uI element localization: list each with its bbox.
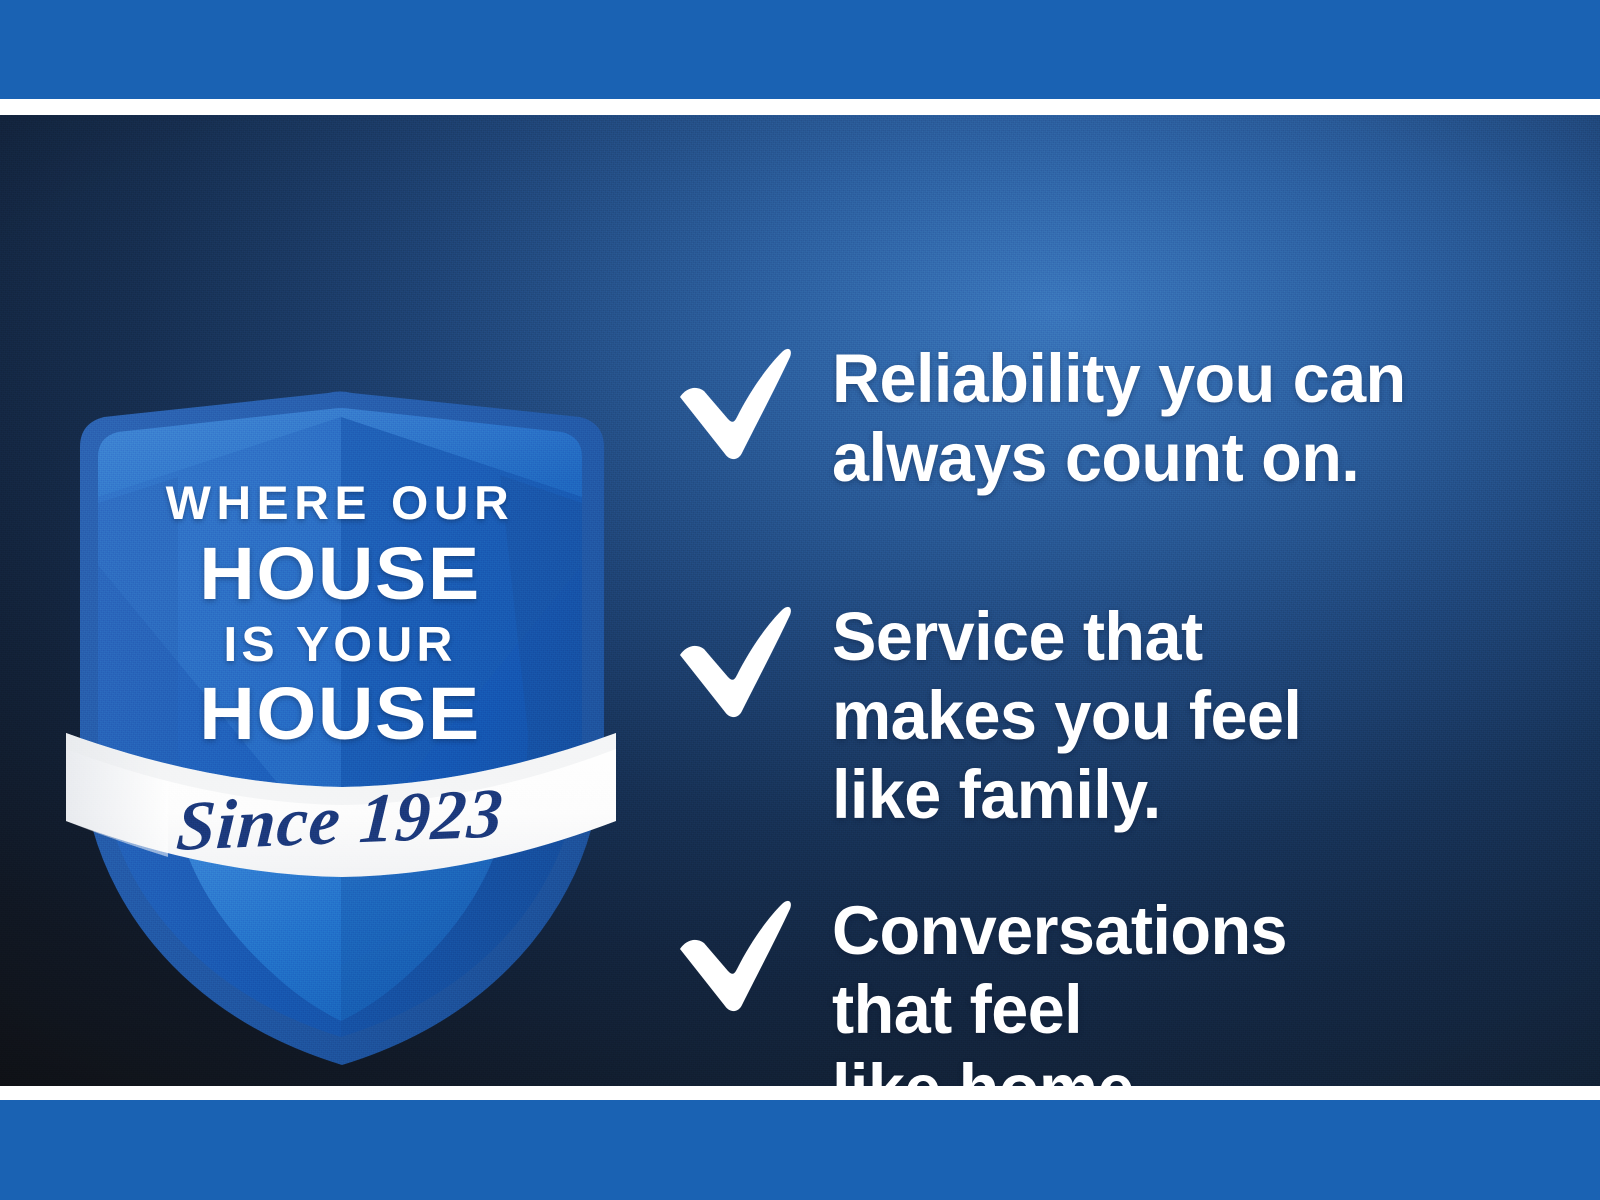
list-item-text: Reliability you can always count on. <box>832 339 1508 497</box>
list-item-line: Reliability you can <box>832 339 1508 418</box>
list-item-text: Conversations that feel like home. <box>832 891 1508 1086</box>
badge-line-1: WHERE OUR <box>54 479 625 526</box>
promo-graphic: WHERE OUR HOUSE IS YOUR HOUSE Since 1923… <box>0 0 1600 1200</box>
list-item-line: Service that <box>832 597 1508 676</box>
list-item-text: Service that makes you feel like family. <box>832 597 1508 834</box>
badge-line-3: IS YOUR <box>54 621 625 670</box>
list-item-line: like home. <box>832 1049 1508 1086</box>
list-item-line: makes you feel <box>832 676 1508 755</box>
list-item-line: always count on. <box>832 418 1508 497</box>
list-item-line: Conversations <box>832 891 1508 970</box>
top-brand-bar <box>0 0 1600 99</box>
list-item-line: that feel <box>832 970 1508 1049</box>
shield-badge: WHERE OUR HOUSE IS YOUR HOUSE Since 1923 <box>60 265 620 1065</box>
check-icon <box>672 895 794 1013</box>
badge-line-4: HOUSE <box>49 677 631 751</box>
main-content-panel: WHERE OUR HOUSE IS YOUR HOUSE Since 1923… <box>0 115 1600 1086</box>
check-icon <box>672 343 794 461</box>
bottom-brand-bar <box>0 1100 1600 1200</box>
list-item-line: like family. <box>832 755 1508 834</box>
check-icon <box>672 601 794 719</box>
badge-line-2: HOUSE <box>49 537 631 611</box>
